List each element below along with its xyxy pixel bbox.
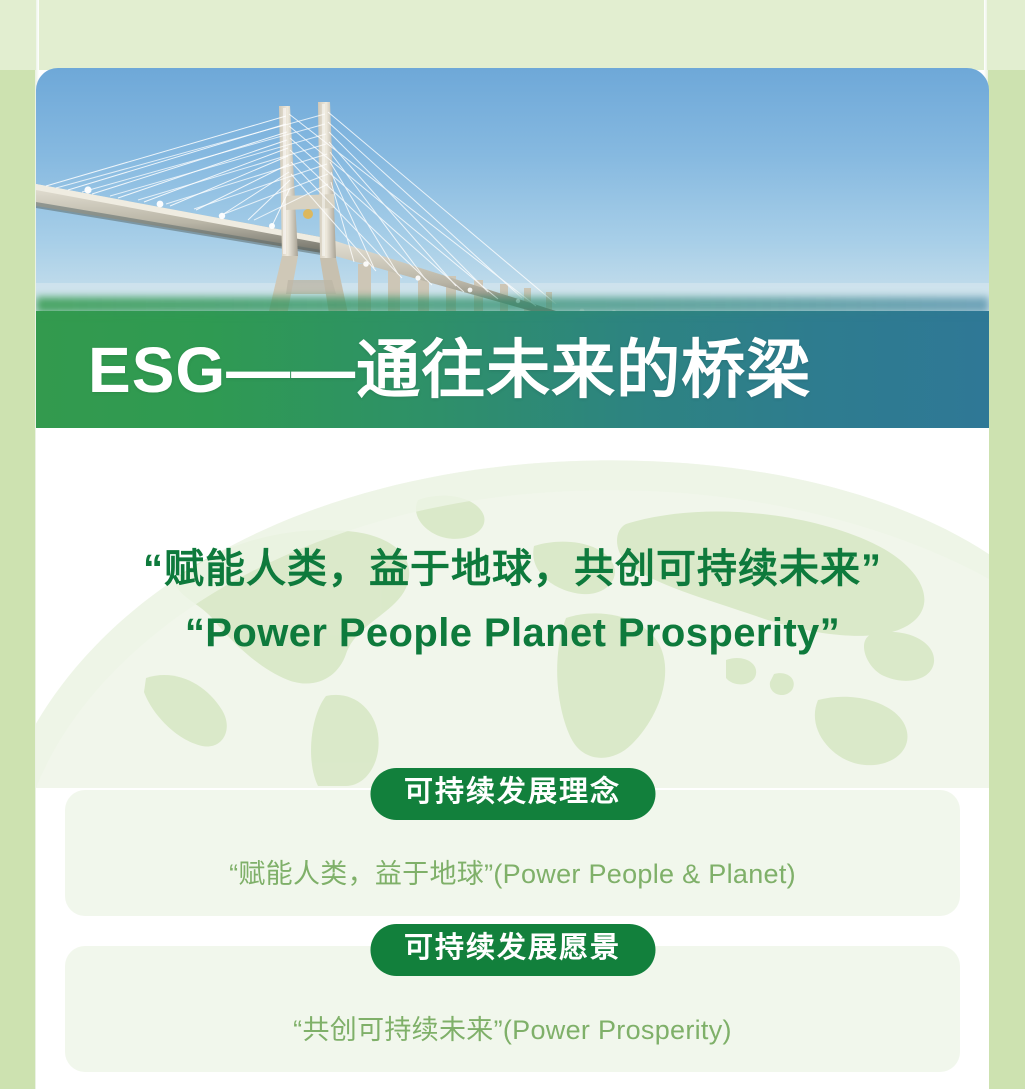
left-green-band: [0, 0, 35, 1089]
esg-poster-page: ESG——通往未来的桥梁: [0, 0, 1025, 1089]
card-sustainability-concept: 可持续发展理念 “赋能人类，益于地球”(Power People & Plane…: [65, 790, 960, 916]
card-sustainability-vision: 可持续发展愿景 “共创可持续未来”(Power Prosperity): [65, 946, 960, 1072]
content-area: “赋能人类，益于地球，共创可持续未来” “Power People Planet…: [36, 428, 989, 1089]
mission-quote-english: “Power People Planet Prosperity”: [36, 608, 989, 658]
top-background-fill-right: [987, 0, 1025, 70]
page-title: ESG——通往未来的桥梁: [88, 338, 811, 402]
mission-quote-block: “赋能人类，益于地球，共创可持续未来” “Power People Planet…: [36, 544, 989, 658]
card-1-pill-label: 可持续发展理念: [370, 768, 655, 820]
card-1-body: “赋能人类，益于地球”(Power People & Planet): [65, 852, 960, 891]
right-green-band: [988, 0, 1025, 1089]
hero-banner: ESG——通往未来的桥梁: [36, 68, 989, 428]
hero-title-banner: ESG——通往未来的桥梁: [36, 311, 989, 428]
top-background-fill-left: [0, 0, 36, 70]
mission-quote-chinese: “赋能人类，益于地球，共创可持续未来”: [36, 544, 989, 594]
card-2-body: “共创可持续未来”(Power Prosperity): [65, 1008, 960, 1047]
top-background-fill: [35, 0, 988, 70]
card-2-pill-label: 可持续发展愿景: [370, 924, 655, 976]
